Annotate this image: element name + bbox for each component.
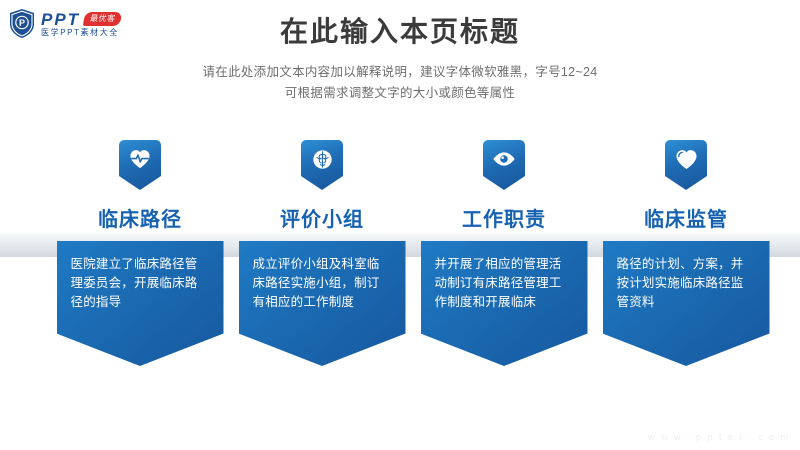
- page-subtitle-line-2: 可根据需求调整文字的大小或颜色等属性: [0, 83, 800, 104]
- site-watermark: w w w . p p t e r . c o m: [648, 432, 790, 442]
- column-heading: 临床路径: [50, 208, 230, 232]
- page-title: 在此输入本页标题: [0, 14, 800, 49]
- column-body-text: 并开展了相应的管理活动制订有床路径管理工作制度和开展临床: [435, 255, 569, 312]
- column-item: 临床路径 医院建立了临床路径管理委员会，开展临床路径的指导: [50, 140, 230, 400]
- page-subtitle-line-1: 请在此处添加文本内容加以解释说明，建议字体微软雅黑，字号12~24: [0, 62, 800, 83]
- column-heading: 评价小组: [232, 208, 412, 232]
- icon-badge: [483, 140, 525, 190]
- column-item: 工作职责 并开展了相应的管理活动制订有床路径管理工作制度和开展临床: [414, 140, 594, 400]
- heart-icon: [665, 146, 707, 172]
- column-heading: 工作职责: [414, 208, 594, 232]
- heart-pulse-icon: [119, 146, 161, 172]
- page-subtitle: 请在此处添加文本内容加以解释说明，建议字体微软雅黑，字号12~24 可根据需求调…: [0, 62, 800, 104]
- column-body-text: 医院建立了临床路径管理委员会，开展临床路径的指导: [71, 255, 205, 312]
- column-panel: 并开展了相应的管理活动制订有床路径管理工作制度和开展临床: [421, 241, 588, 366]
- column-heading: 临床监管: [596, 208, 776, 232]
- slide-canvas: P PPT 最优客 医学PPT素材大全 在此输入本页标题 请在此处添加文本内容加…: [0, 0, 800, 450]
- icon-badge: [119, 140, 161, 190]
- column-body-text: 路径的计划、方案，并按计划实施临床路径监管资料: [617, 255, 751, 312]
- column-item: 评价小组 成立评价小组及科室临床路径实施小组，制订有相应的工作制度: [232, 140, 412, 400]
- icon-badge: [301, 140, 343, 190]
- column-panel: 路径的计划、方案，并按计划实施临床路径监管资料: [603, 241, 770, 366]
- column-item: 临床监管 路径的计划、方案，并按计划实施临床路径监管资料: [596, 140, 776, 400]
- column-body-text: 成立评价小组及科室临床路径实施小组，制订有相应的工作制度: [253, 255, 387, 312]
- column-panel: 医院建立了临床路径管理委员会，开展临床路径的指导: [57, 241, 224, 366]
- eye-icon: [483, 146, 525, 172]
- brain-icon: [301, 146, 343, 172]
- icon-badge: [665, 140, 707, 190]
- column-panel: 成立评价小组及科室临床路径实施小组，制订有相应的工作制度: [239, 241, 406, 366]
